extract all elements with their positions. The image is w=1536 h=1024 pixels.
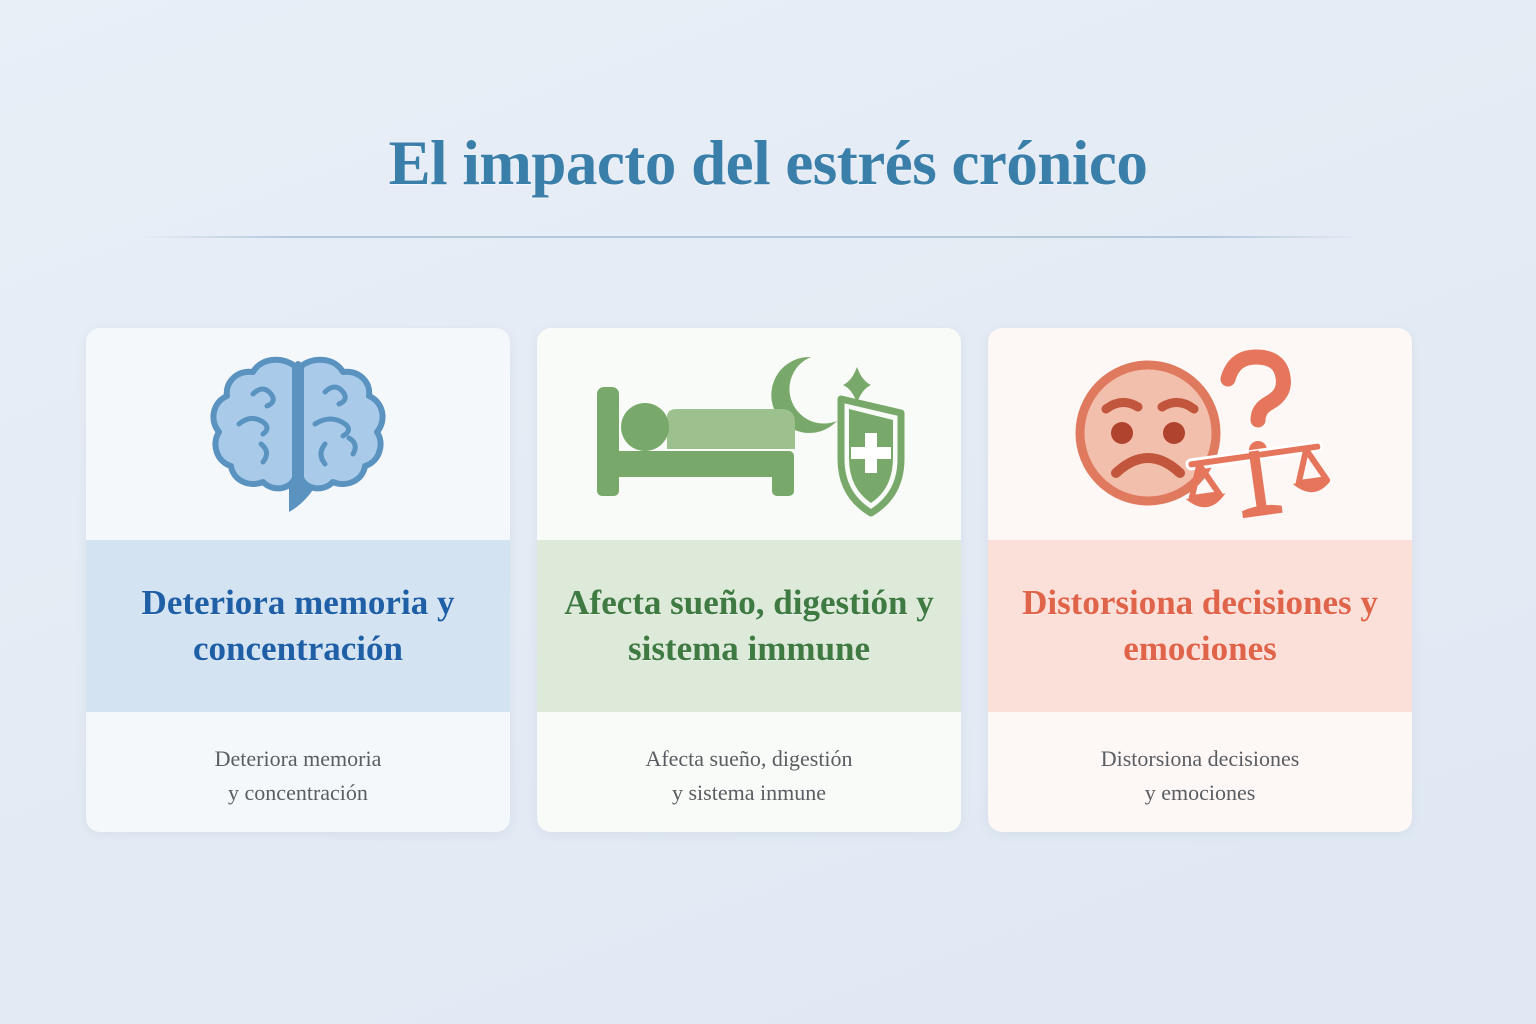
card-memoria-caption-line2: y concentración xyxy=(228,780,368,805)
card-sueno-heading: Afecta sueño, digestión y sistema immune xyxy=(555,580,943,672)
title-divider xyxy=(146,236,1356,238)
card-decisiones-caption-line1: Distorsiona decisiones xyxy=(1101,746,1300,771)
card-memoria-heading: Deteriora memoria y concentración xyxy=(104,580,492,672)
card-sueno[interactable]: Afecta sueño, digestión y sistema immune… xyxy=(537,328,961,832)
infographic-poster: El impacto del estrés crónico xyxy=(0,0,1536,1024)
card-sueno-caption-line1: Afecta sueño, digestión xyxy=(645,746,852,771)
card-sueno-caption-area: Afecta sueño, digestión y sistema inmune xyxy=(537,712,961,832)
card-sueno-caption-line2: y sistema inmune xyxy=(672,780,826,805)
sad-face-scale-question-icon xyxy=(1070,347,1330,522)
card-decisiones-caption: Distorsiona decisiones y emociones xyxy=(1101,742,1300,810)
card-decisiones-caption-line2: y emociones xyxy=(1145,780,1256,805)
card-decisiones-caption-area: Distorsiona decisiones y emociones xyxy=(988,712,1412,832)
card-memoria-icon-area xyxy=(86,328,510,540)
card-decisiones[interactable]: Distorsiona decisiones y emociones Disto… xyxy=(988,328,1412,832)
card-sueno-band: Afecta sueño, digestión y sistema immune xyxy=(537,540,961,712)
title-block: El impacto del estrés crónico xyxy=(0,128,1536,199)
card-sueno-icon-area xyxy=(537,328,961,540)
card-decisiones-band: Distorsiona decisiones y emociones xyxy=(988,540,1412,712)
card-sueno-caption: Afecta sueño, digestión y sistema inmune xyxy=(645,742,852,810)
card-memoria-caption-area: Deteriora memoria y concentración xyxy=(86,712,510,832)
card-memoria[interactable]: Deteriora memoria y concentración Deteri… xyxy=(86,328,510,832)
card-memoria-caption-line1: Deteriora memoria xyxy=(215,746,382,771)
card-decisiones-heading: Distorsiona decisiones y emociones xyxy=(1006,580,1394,672)
page-title: El impacto del estrés crónico xyxy=(0,128,1536,199)
question-mark-icon xyxy=(1228,357,1283,459)
shield-icon xyxy=(841,399,901,513)
card-decisiones-icon-area xyxy=(988,328,1412,540)
bed-moon-shield-icon xyxy=(589,347,909,522)
card-memoria-caption: Deteriora memoria y concentración xyxy=(215,742,382,810)
brain-icon xyxy=(203,352,393,517)
cards-row: Deteriora memoria y concentración Deteri… xyxy=(86,328,1450,832)
card-memoria-band: Deteriora memoria y concentración xyxy=(86,540,510,712)
